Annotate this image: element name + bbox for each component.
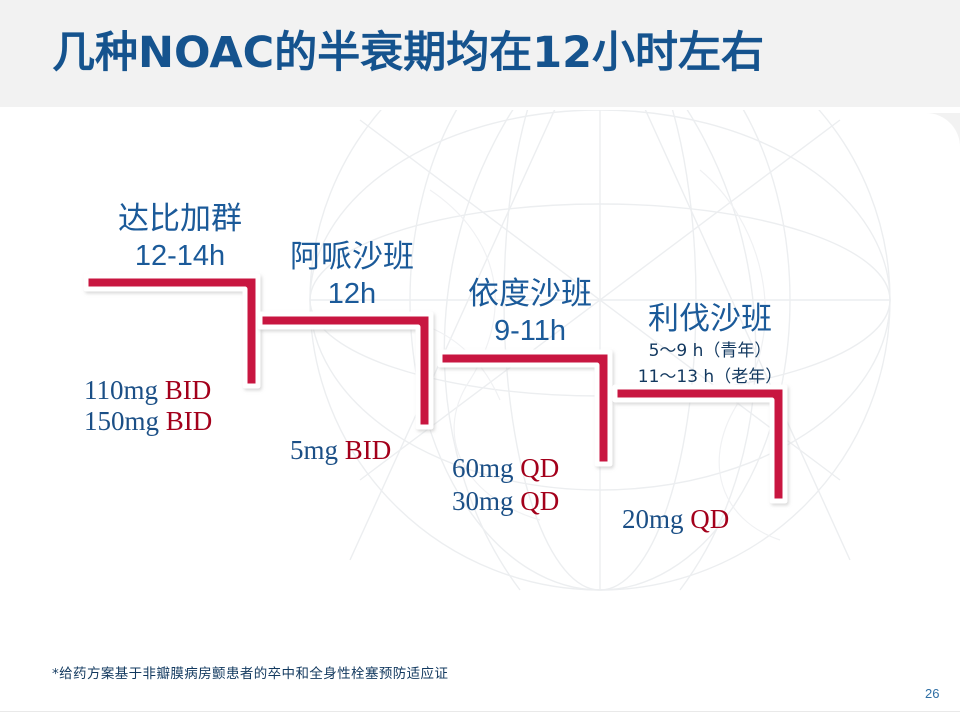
staircase-chart (0, 0, 960, 720)
drug-halflife-dabigatran: 12-14h (90, 238, 270, 274)
dose-amount: 150mg (84, 406, 159, 436)
drug-name-rivaroxaban: 利伐沙班 (615, 300, 805, 338)
drug-label-dabigatran: 达比加群 12-14h (90, 200, 270, 274)
dose-frequency: QD (520, 486, 559, 516)
dose-rivaroxaban-1: 20mg QD (622, 503, 729, 536)
dose-edoxaban-2: 30mg QD (452, 485, 559, 518)
slide-canvas: 几种NOAC的半衰期均在12小时左右 达比加群 12-14h 11 (0, 0, 960, 720)
dose-frequency: BID (165, 375, 212, 405)
drug-name-edoxaban: 依度沙班 (440, 275, 620, 313)
dose-frequency: QD (520, 453, 559, 483)
dose-amount: 20mg (622, 504, 684, 534)
dose-frequency: BID (345, 435, 392, 465)
dose-amount: 60mg (452, 453, 514, 483)
step-bar-dabigatran (86, 276, 258, 386)
footnote: *给药方案基于非瓣膜病房颤患者的卒中和全身性栓塞预防适应证 (52, 662, 448, 682)
drug-name-dabigatran: 达比加群 (90, 200, 270, 238)
dose-amount: 110mg (84, 375, 158, 405)
drug-halflife-edoxaban: 9-11h (440, 313, 620, 349)
dose-edoxaban-1: 60mg QD (452, 452, 559, 485)
drug-halflife-rivaroxaban-young: 5～9 h（青年） (615, 338, 805, 364)
step-bar-apixaban (260, 314, 431, 427)
drug-halflife-apixaban: 12h (262, 276, 442, 312)
step-bar-rivaroxaban (615, 387, 785, 501)
dose-dabigatran-2: 150mg BID (84, 405, 212, 438)
bottom-divider (0, 711, 960, 712)
drug-label-edoxaban: 依度沙班 9-11h (440, 275, 620, 349)
page-number: 26 (925, 686, 939, 701)
drug-halflife-rivaroxaban-elderly: 11～13 h（老年） (615, 364, 805, 390)
dose-amount: 5mg (290, 435, 338, 465)
drug-label-rivaroxaban: 利伐沙班 5～9 h（青年） 11～13 h（老年） (615, 300, 805, 390)
step-bar-edoxaban (440, 352, 610, 464)
dose-dabigatran-1: 110mg BID (84, 374, 211, 407)
drug-name-apixaban: 阿哌沙班 (262, 238, 442, 276)
dose-apixaban-1: 5mg BID (290, 434, 391, 467)
dose-frequency: QD (690, 504, 729, 534)
dose-frequency: BID (166, 406, 213, 436)
drug-label-apixaban: 阿哌沙班 12h (262, 238, 442, 312)
dose-amount: 30mg (452, 486, 514, 516)
